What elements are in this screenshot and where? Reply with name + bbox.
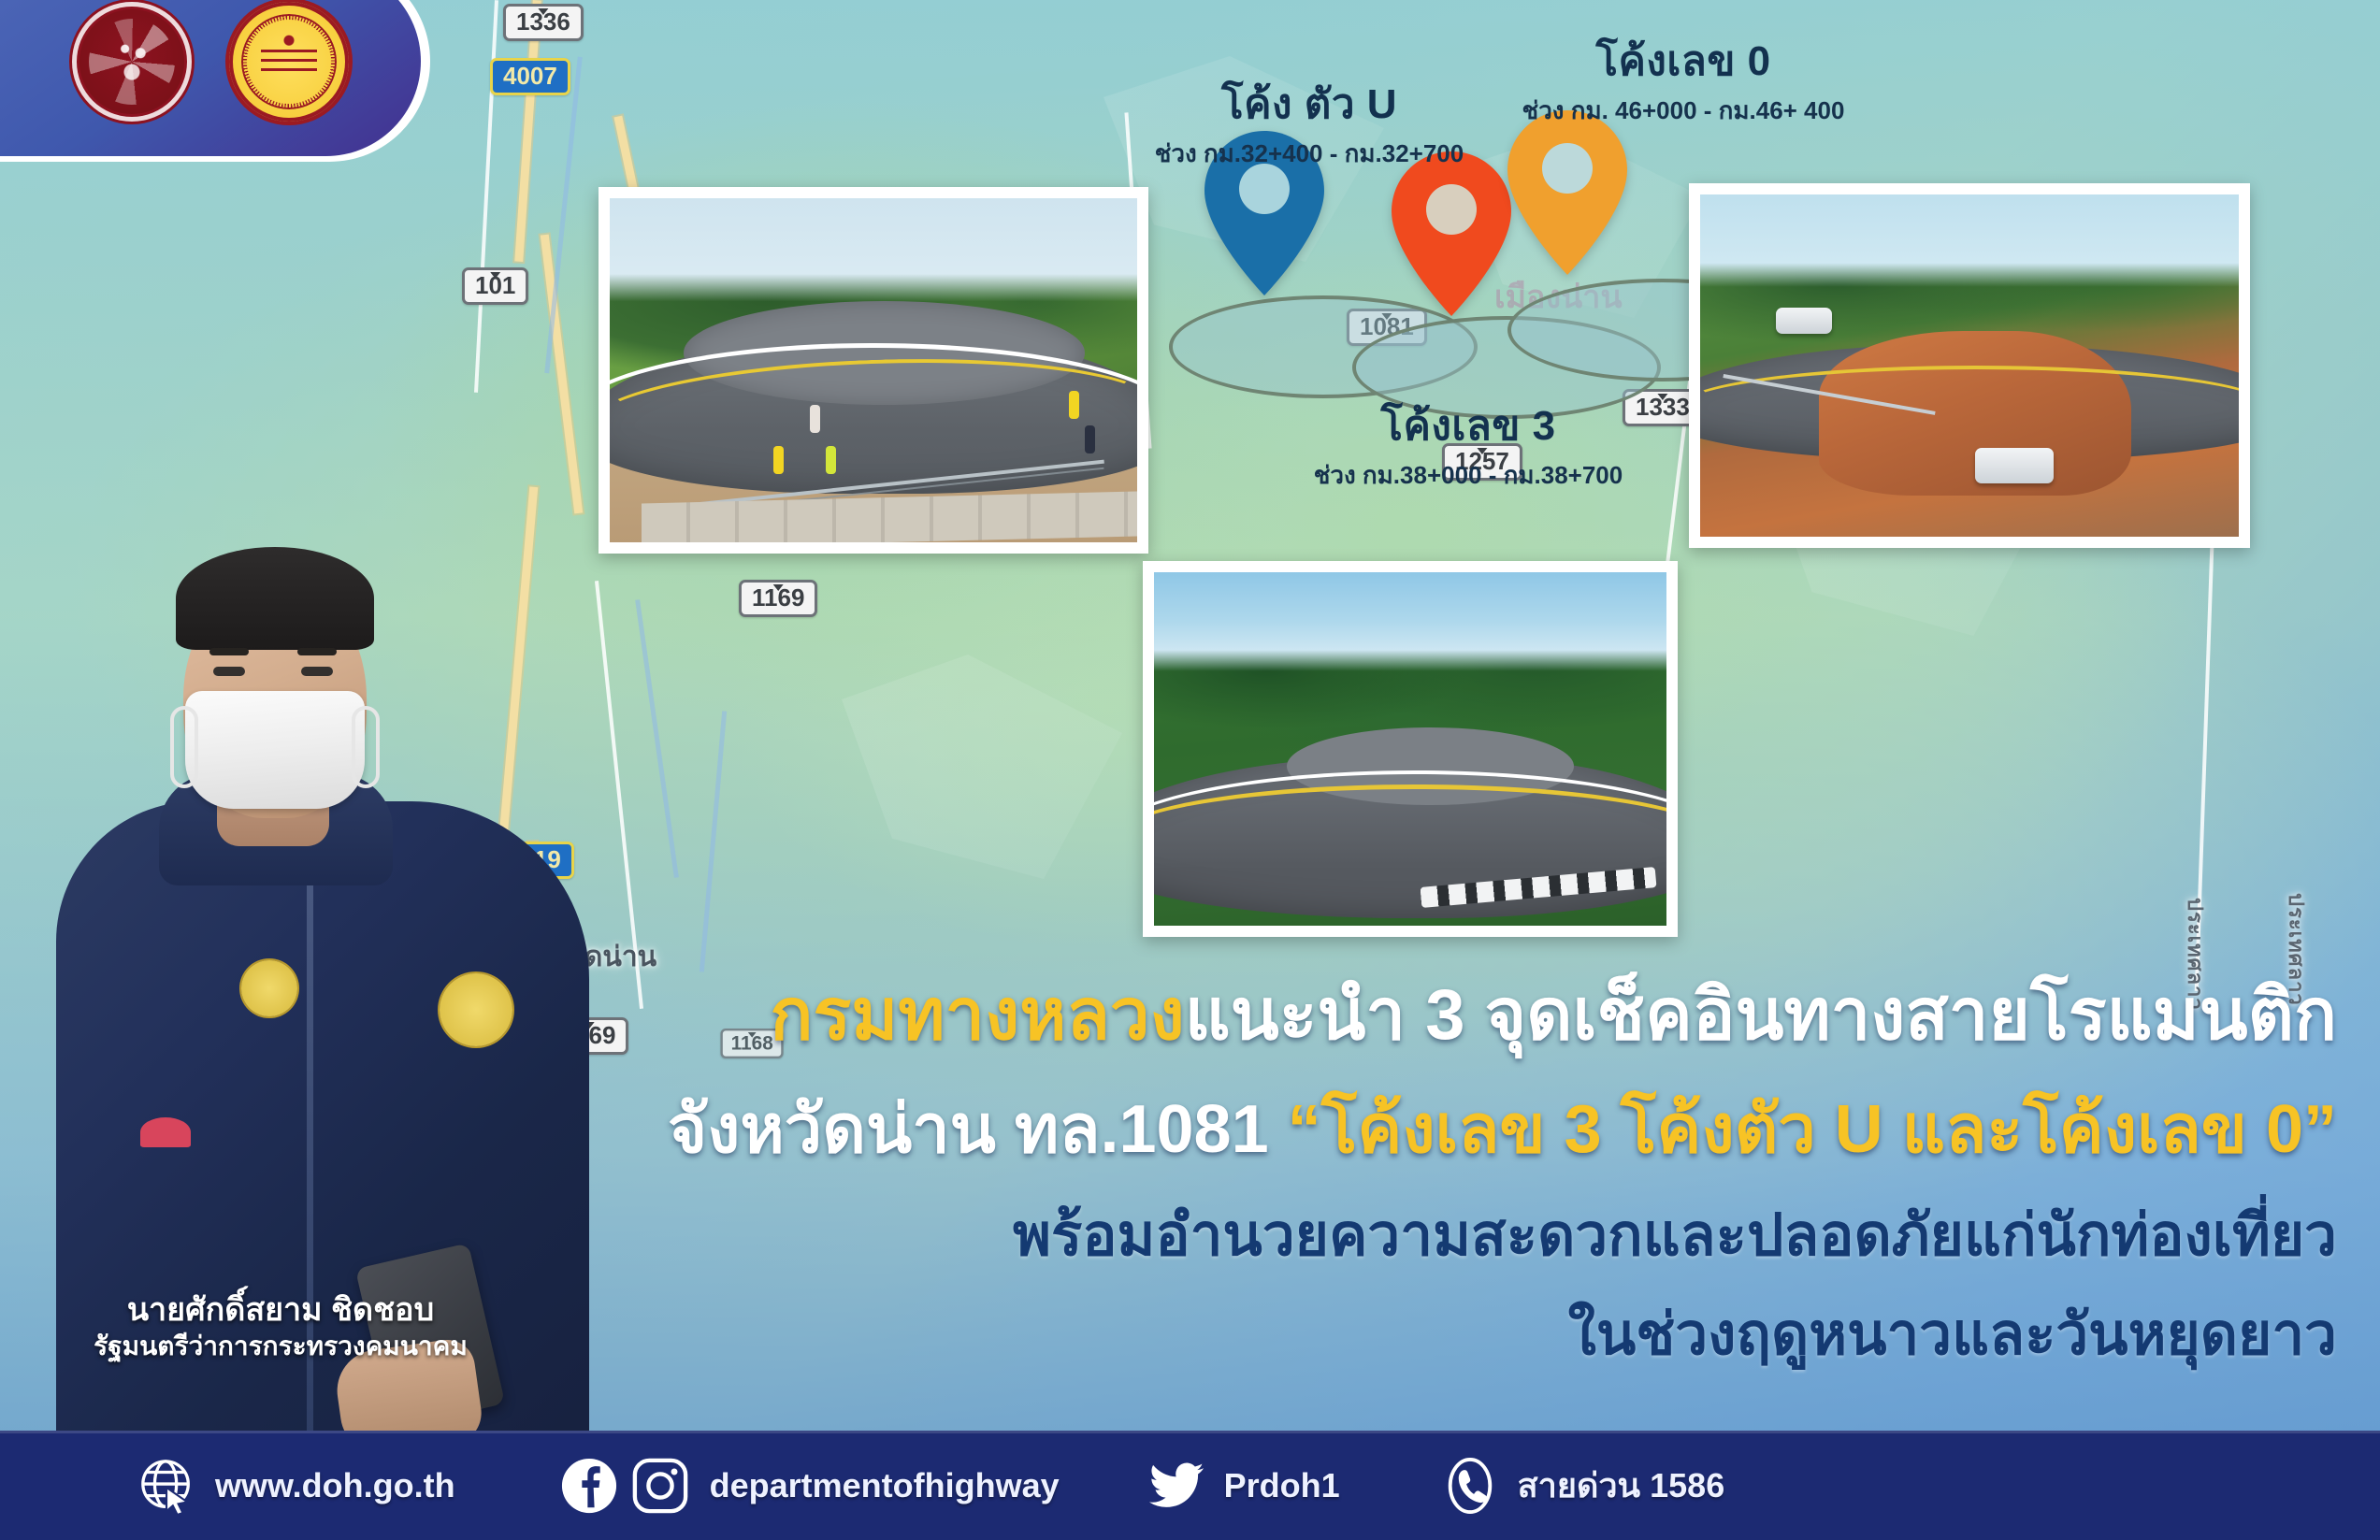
eyebrow-right bbox=[297, 648, 337, 655]
jacket bbox=[56, 801, 589, 1540]
location-title: โค้งเลข 3 bbox=[1234, 404, 1702, 449]
footer-social[interactable]: departmentofhighway bbox=[560, 1457, 1060, 1515]
headline-text: แนะนำ 3 จุดเช็คอินทางสายโรแมนติก bbox=[1185, 975, 2337, 1055]
concrete-drain bbox=[642, 492, 1137, 542]
facebook-icon[interactable] bbox=[560, 1457, 618, 1515]
route-shield-1336: 1336 bbox=[503, 4, 584, 41]
hair bbox=[176, 547, 374, 650]
pedestrian bbox=[810, 405, 820, 433]
minister-portrait: นายศักดิ์สยาม ชิดชอบ รัฐมนตรีว่าการกระทร… bbox=[0, 437, 599, 1540]
globe-cursor-icon bbox=[138, 1457, 196, 1515]
jacket-crest bbox=[140, 1117, 191, 1147]
footer-bar: www.doh.go.th departmentofhighway bbox=[0, 1431, 2380, 1540]
footer-website-label: www.doh.go.th bbox=[215, 1466, 455, 1505]
instagram-icon[interactable] bbox=[631, 1457, 689, 1515]
headline-highlight: กรมทางหลวง bbox=[770, 975, 1184, 1055]
footer-hotline-label: สายด่วน 1586 bbox=[1518, 1459, 1725, 1512]
pedestrian bbox=[826, 446, 836, 474]
scene-valley-curve bbox=[1154, 572, 1666, 926]
vehicle bbox=[1975, 448, 2054, 483]
location-km-range: ช่วง กม.38+000 - กม.38+700 bbox=[1234, 456, 1702, 495]
garuda-royal-seal-icon bbox=[72, 2, 192, 122]
pedestrian bbox=[773, 446, 784, 474]
road-center-line bbox=[1700, 366, 2239, 448]
face-mask bbox=[185, 691, 365, 809]
headline-line-1: กรมทางหลวงแนะนำ 3 จุดเช็คอินทางสายโรแมนต… bbox=[560, 958, 2337, 1071]
footer-twitter[interactable]: Prdoh1 bbox=[1147, 1457, 1340, 1515]
headline-block: กรมทางหลวงแนะนำ 3 จุดเช็คอินทางสายโรแมนต… bbox=[560, 958, 2337, 1380]
twitter-icon[interactable] bbox=[1147, 1457, 1205, 1515]
location-km-range: ช่วง กม.32+400 - กม.32+700 bbox=[1047, 135, 1571, 173]
photo-image bbox=[610, 198, 1137, 542]
minister-role: รัฐมนตรีว่าการกระทรวงคมนาคม bbox=[0, 1330, 561, 1362]
headline-line-2: จังหวัดน่าน ทล.1081 “โค้งเลข 3 โค้งตัว U… bbox=[560, 1074, 2337, 1182]
pedestrian bbox=[1069, 391, 1079, 419]
route-shield-1169-upper: 1169 bbox=[739, 580, 817, 617]
vehicle bbox=[1776, 308, 1832, 334]
eye-right bbox=[301, 667, 333, 676]
photo-valley-curve[interactable] bbox=[1143, 561, 1678, 937]
headline-text: จังหวัดน่าน ทล.1081 bbox=[668, 1092, 1288, 1167]
photo-cliff-curve[interactable] bbox=[1689, 183, 2250, 548]
infographic-canvas: 1336 4007 101 1169 1081 1257 1333 4019 1… bbox=[0, 0, 2380, 1540]
jacket-logo-left bbox=[241, 960, 297, 1016]
footer-website[interactable]: www.doh.go.th bbox=[138, 1457, 455, 1515]
minister-name: นายศักดิ์สยาม ชิดชอบ bbox=[0, 1290, 561, 1331]
photo-image bbox=[1700, 194, 2239, 537]
route-shield-101: 101 bbox=[462, 267, 528, 305]
footer-twitter-label: Prdoh1 bbox=[1224, 1466, 1340, 1505]
scene-cliff-curve bbox=[1700, 194, 2239, 537]
phone-icon bbox=[1441, 1457, 1499, 1515]
agency-emblem-badge bbox=[0, 0, 430, 162]
footer-hotline[interactable]: สายด่วน 1586 bbox=[1441, 1457, 1725, 1515]
photo-u-curve[interactable] bbox=[599, 187, 1148, 554]
location-label-curve-three: โค้งเลข 3 ช่วง กม.38+000 - กม.38+700 bbox=[1234, 404, 1702, 495]
location-label-curve-zero: โค้งเลข 0 ช่วง กม. 46+000 - กม.46+ 400 bbox=[1365, 39, 2001, 130]
route-shield-4007: 4007 bbox=[490, 58, 570, 95]
footer-social-label: departmentofhighway bbox=[710, 1466, 1060, 1505]
location-km-range: ช่วง กม. 46+000 - กม.46+ 400 bbox=[1365, 92, 2001, 130]
headline-highlight: “โค้งเลข 3 โค้งตัว U และโค้งเลข 0” bbox=[1288, 1092, 2337, 1167]
scene-u-curve bbox=[610, 198, 1137, 542]
department-of-highways-seal-icon bbox=[229, 2, 349, 122]
photo-image bbox=[1154, 572, 1666, 926]
eye-left bbox=[213, 667, 245, 676]
headline-line-3: พร้อมอำนวยความสะดวกและปลอดภัยแก่นักท่องเ… bbox=[560, 1189, 2337, 1281]
minister-caption: นายศักดิ์สยาม ชิดชอบ รัฐมนตรีว่าการกระทร… bbox=[0, 1290, 561, 1363]
pedestrian bbox=[1085, 425, 1095, 453]
map-pin-red[interactable] bbox=[1392, 151, 1511, 316]
eyebrow-left bbox=[209, 648, 249, 655]
jacket-emblem-right bbox=[440, 973, 512, 1046]
headline-line-4: ในช่วงฤดูหนาวและวันหยุดยาว bbox=[560, 1288, 2337, 1380]
location-title: โค้งเลข 0 bbox=[1365, 39, 2001, 84]
